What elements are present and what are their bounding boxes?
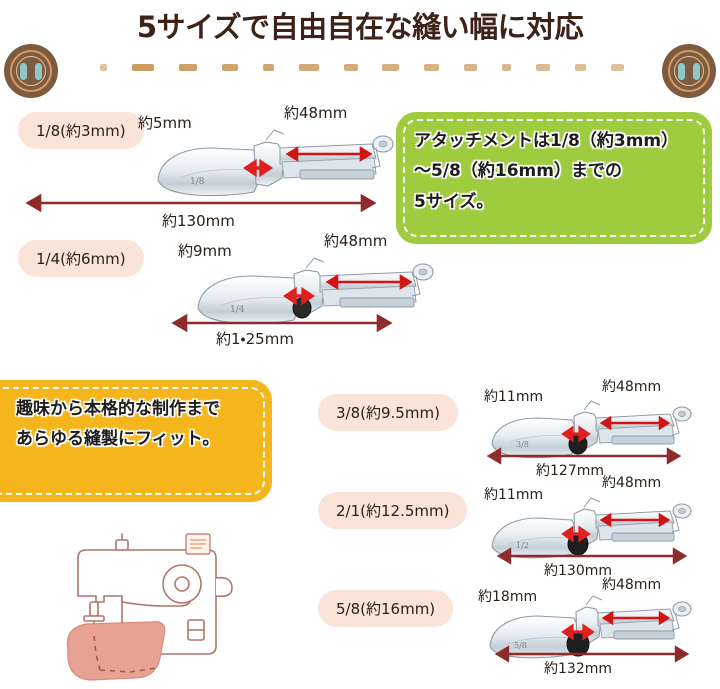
stitch-dash <box>132 64 154 71</box>
stitch-dash <box>536 64 550 71</box>
dim-body-1-4: 約48mm <box>324 230 387 251</box>
sewing-machine-illustration <box>60 532 310 682</box>
stitch-dash <box>344 64 358 71</box>
callout-green: アタッチメントは1/8（約3mm） 〜5/8（約16mm）までの 5サイズ。 <box>396 112 712 244</box>
dim-total-1-8: 約130mm <box>162 210 235 231</box>
dim-body-3-8: 約48mm <box>602 376 661 396</box>
thread-right <box>693 63 700 80</box>
thread-left <box>20 63 27 80</box>
total-dim-1-4: 約1・25mm <box>168 312 396 358</box>
fabric <box>67 622 164 680</box>
stitch-dash <box>502 64 511 71</box>
callout-green-line-3: 5サイズ。 <box>414 189 694 215</box>
stitch-dash-line <box>100 62 624 74</box>
size-label-1-8: 1/8(約3mm) <box>18 112 144 149</box>
stitch-dash <box>575 64 586 71</box>
size-label-5-8: 5/8(約16mm) <box>318 590 453 627</box>
stitch-dash <box>179 64 197 71</box>
dim-total-1-4: 約1・25mm <box>216 328 294 349</box>
button-threads <box>20 62 42 80</box>
dim-width-3-8: 約11mm <box>484 386 543 406</box>
dim-total-3-8: 約127mm <box>536 460 604 480</box>
button-icon-right <box>662 44 716 98</box>
button-threads <box>678 62 700 80</box>
thread-left <box>678 63 685 80</box>
dim-body-2-1: 約48mm <box>602 472 661 492</box>
callout-green-line-2: 〜5/8（約16mm）までの <box>414 158 694 184</box>
stitch-dash <box>464 64 477 71</box>
stitch-dash <box>263 64 274 71</box>
stitch-dash <box>100 64 107 71</box>
callout-green-line-1: アタッチメントは1/8（約3mm） <box>414 128 694 154</box>
total-dim-5-8: 約132mm <box>492 644 692 684</box>
size-label-2-1: 2/1(約12.5mm) <box>318 492 467 529</box>
size-label-1-4: 1/4(約6mm) <box>18 240 144 277</box>
dim-width-1-8: 約5mm <box>138 112 192 133</box>
infographic-root: 5サイズで自由自在な縫い幅に対応 アタッチメントは1/8（約3mm） 〜5/8（… <box>0 0 720 689</box>
dim-width-2-1: 約11mm <box>484 484 543 504</box>
sewing-machine-drawing <box>60 532 310 682</box>
stitch-dash <box>222 64 238 71</box>
stitch-dash <box>382 64 399 71</box>
dim-body-5-8: 約48mm <box>602 574 661 594</box>
foot-engraving: 1/8 <box>190 177 205 187</box>
dim-body-1-8: 約48mm <box>284 102 347 123</box>
stitch-dash <box>611 64 624 71</box>
size-label-3-8: 3/8(約9.5mm) <box>318 394 458 431</box>
callout-yellow: 趣味から本格的な制作まで あらゆる縫製にフィット。 <box>0 380 272 502</box>
callout-yellow-line-2: あらゆる縫製にフィット。 <box>16 426 254 452</box>
page-title: 5サイズで自由自在な縫い幅に対応 <box>0 4 720 46</box>
dim-width-1-4: 約9mm <box>178 240 232 261</box>
button-icon-left <box>4 44 58 98</box>
dim-total-5-8: 約132mm <box>544 658 612 678</box>
stitch-dash <box>424 64 439 71</box>
stitch-dash <box>299 64 319 71</box>
callout-yellow-line-1: 趣味から本格的な制作まで <box>16 396 254 422</box>
dim-width-5-8: 約18mm <box>478 586 537 606</box>
thread-right <box>35 63 42 80</box>
